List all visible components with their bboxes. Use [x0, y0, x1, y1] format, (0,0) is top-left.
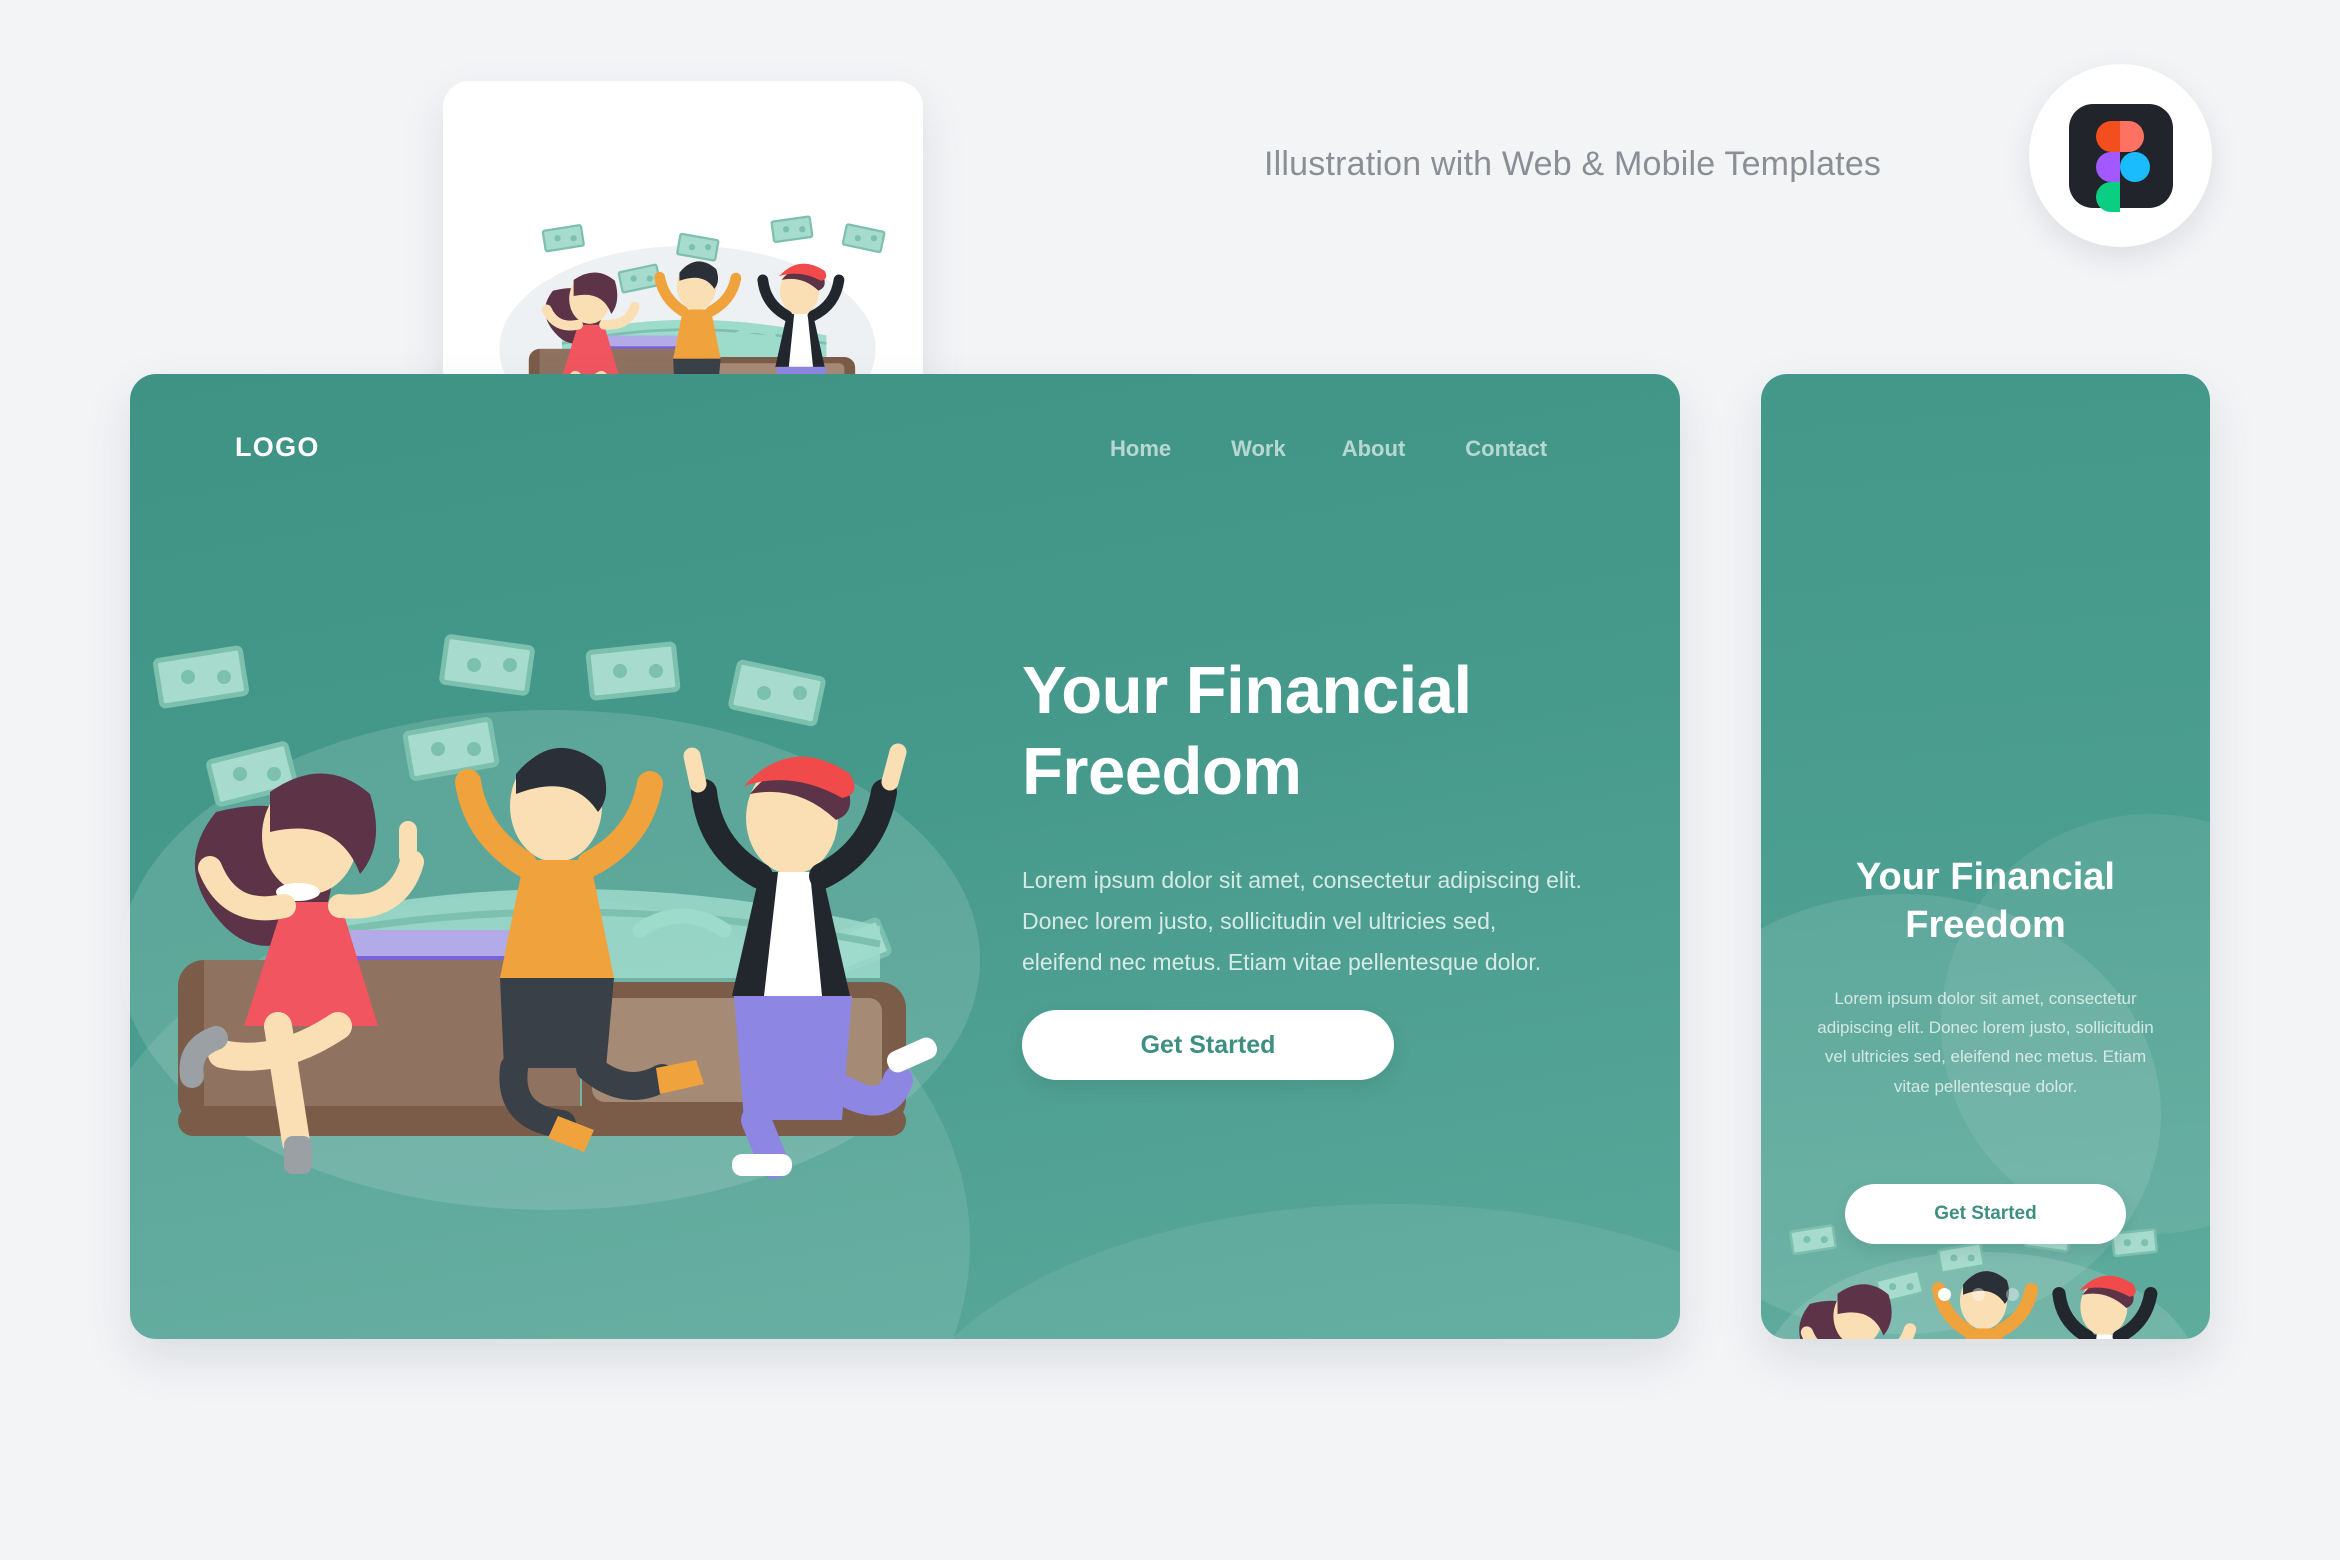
- nav-item-contact[interactable]: Contact: [1465, 436, 1547, 462]
- mobile-body-text: Lorem ipsum dolor sit amet, consectetur …: [1815, 984, 2156, 1101]
- figma-logo-icon: [2069, 104, 2173, 208]
- figma-red-shape-icon: [2096, 121, 2120, 152]
- nav-gap: [1171, 436, 1231, 462]
- mobile-title: Your Financial Freedom: [1761, 854, 2210, 950]
- carousel-dot-2[interactable]: [1972, 1288, 1985, 1301]
- nav-item-home[interactable]: Home: [1110, 436, 1171, 462]
- mobile-get-started-button[interactable]: Get Started: [1845, 1184, 2126, 1244]
- financial-freedom-illustration-desktop: [120, 630, 1000, 1210]
- mobile-title-line-1: Your Financial: [1761, 854, 2210, 902]
- hero-title: Your Financial Freedom: [1022, 650, 1582, 812]
- carousel-pagination: [1938, 1288, 2019, 1301]
- main-navigation: Home Work About Contact: [1110, 436, 1547, 462]
- hero-body-text: Lorem ipsum dolor sit amet, consectetur …: [1022, 860, 1582, 983]
- nav-gap: [1286, 436, 1342, 462]
- nav-item-work[interactable]: Work: [1231, 436, 1286, 462]
- get-started-button[interactable]: Get Started: [1022, 1010, 1394, 1080]
- nav-item-about[interactable]: About: [1342, 436, 1406, 462]
- figma-green-shape-icon: [2096, 182, 2120, 212]
- hero-text-block: Your Financial Freedom Lorem ipsum dolor…: [1022, 650, 1582, 983]
- nav-gap: [1405, 436, 1465, 462]
- mobile-title-line-2: Freedom: [1761, 902, 2210, 950]
- page-root: Illustration with Web & Mobile Templates: [0, 0, 2340, 1560]
- page-title: Illustration with Web & Mobile Templates: [1264, 145, 1881, 184]
- figma-purple-shape-icon: [2096, 152, 2120, 182]
- figma-blue-shape-icon: [2120, 152, 2150, 182]
- carousel-dot-3[interactable]: [2006, 1288, 2019, 1301]
- carousel-dot-1[interactable]: [1938, 1288, 1951, 1301]
- decorative-blob-icon: [890, 1204, 1680, 1339]
- hero-title-line-1: Your Financial: [1022, 650, 1582, 731]
- figma-orange-shape-icon: [2120, 121, 2144, 152]
- hero-title-line-2: Freedom: [1022, 731, 1582, 812]
- figma-logo-badge: [2029, 64, 2212, 247]
- brand-logo[interactable]: LOGO: [235, 432, 320, 463]
